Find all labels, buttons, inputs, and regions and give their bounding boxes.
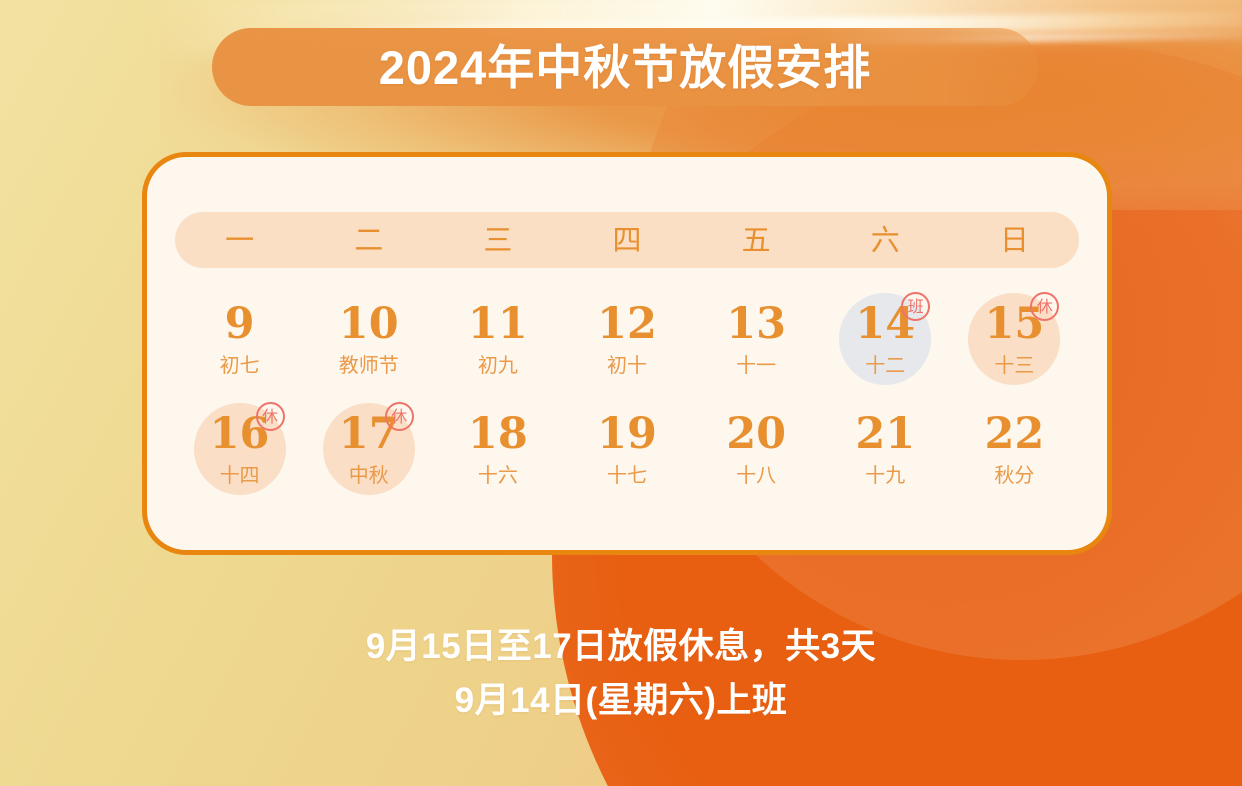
day-number: 20	[726, 413, 786, 456]
day-cell-14[interactable]: 14十二班	[821, 284, 950, 394]
day-cell-20[interactable]: 20十八	[692, 394, 821, 504]
rest-badge-icon: 休	[256, 402, 285, 431]
day-cell-21[interactable]: 21十九	[821, 394, 950, 504]
day-lunar-label: 十一	[736, 355, 776, 375]
day-cell-18[interactable]: 18十六	[433, 394, 562, 504]
holiday-note-line-1: 9月15日至17日放假休息，共3天	[0, 620, 1242, 674]
title-banner: 2024年中秋节放假安排	[212, 28, 1038, 106]
weekday-2: 二	[304, 212, 433, 268]
day-lunar-label: 十八	[736, 465, 776, 485]
day-number: 18	[468, 413, 528, 456]
day-cell-17[interactable]: 17中秋休	[304, 394, 433, 504]
day-lunar-label: 十二	[865, 355, 905, 375]
day-cell-19[interactable]: 19十七	[562, 394, 691, 504]
work-badge-icon: 班	[901, 292, 930, 321]
day-lunar-label: 中秋	[349, 465, 389, 485]
day-number: 22	[984, 413, 1044, 456]
weekday-5: 五	[692, 212, 821, 268]
weekday-6: 六	[821, 212, 950, 268]
rest-badge-icon: 休	[385, 402, 414, 431]
calendar-card: 一二三四五六日 9初七10教师节11初九12初十13十一14十二班15十三休16…	[142, 152, 1112, 555]
day-lunar-label: 十七	[607, 465, 647, 485]
weekday-3: 三	[433, 212, 562, 268]
page-title: 2024年中秋节放假安排	[379, 44, 872, 91]
day-lunar-label: 教师节	[339, 355, 399, 375]
day-cell-9[interactable]: 9初七	[175, 284, 304, 394]
rest-badge-icon: 休	[1030, 292, 1059, 321]
day-lunar-label: 秋分	[994, 465, 1034, 485]
day-number: 11	[468, 303, 528, 346]
day-number: 10	[339, 303, 399, 346]
day-number: 9	[225, 303, 255, 346]
day-number: 12	[597, 303, 657, 346]
calendar-days-grid: 9初七10教师节11初九12初十13十一14十二班15十三休16十四休17中秋休…	[175, 284, 1079, 504]
day-number: 13	[726, 303, 786, 346]
holiday-note-line-2: 9月14日(星期六)上班	[0, 674, 1242, 728]
calendar-week-row: 16十四休17中秋休18十六19十七20十八21十九22秋分	[175, 394, 1079, 504]
day-lunar-label: 十四	[220, 465, 260, 485]
day-cell-12[interactable]: 12初十	[562, 284, 691, 394]
day-lunar-label: 初九	[478, 355, 518, 375]
weekday-7: 日	[950, 212, 1079, 268]
day-lunar-label: 十九	[865, 465, 905, 485]
day-cell-11[interactable]: 11初九	[433, 284, 562, 394]
weekday-header-row: 一二三四五六日	[175, 212, 1079, 268]
weekday-1: 一	[175, 212, 304, 268]
day-lunar-label: 初七	[220, 355, 260, 375]
day-number: 21	[855, 413, 915, 456]
day-cell-22[interactable]: 22秋分	[950, 394, 1079, 504]
footer-notes: 9月15日至17日放假休息，共3天 9月14日(星期六)上班	[0, 620, 1242, 728]
calendar-week-row: 9初七10教师节11初九12初十13十一14十二班15十三休	[175, 284, 1079, 394]
day-lunar-label: 十六	[478, 465, 518, 485]
day-lunar-label: 十三	[994, 355, 1034, 375]
day-lunar-label: 初十	[607, 355, 647, 375]
day-number: 19	[597, 413, 657, 456]
day-cell-16[interactable]: 16十四休	[175, 394, 304, 504]
day-cell-15[interactable]: 15十三休	[950, 284, 1079, 394]
day-cell-13[interactable]: 13十一	[692, 284, 821, 394]
weekday-4: 四	[562, 212, 691, 268]
day-cell-10[interactable]: 10教师节	[304, 284, 433, 394]
